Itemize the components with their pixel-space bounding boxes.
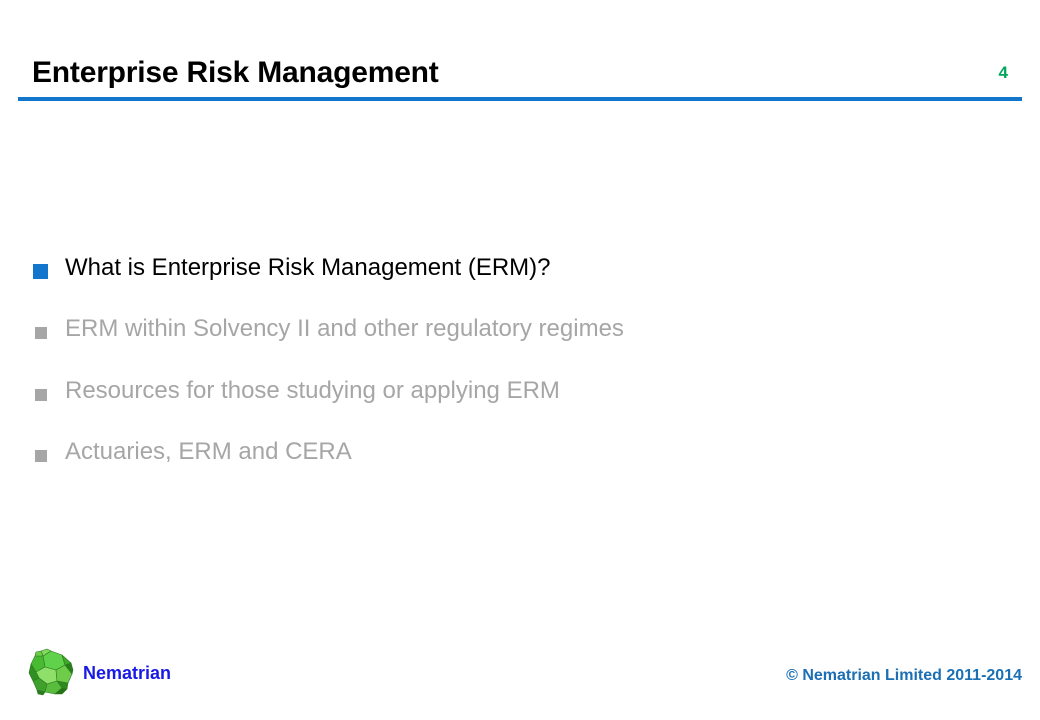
green-polyhedron-logo-icon xyxy=(26,648,76,698)
list-item[interactable]: Actuaries, ERM and CERA xyxy=(33,436,993,468)
presentation-slide: Enterprise Risk Management 4 What is Ent… xyxy=(0,0,1040,720)
bullet-square-icon xyxy=(35,389,47,401)
list-item-label: What is Enterprise Risk Management (ERM)… xyxy=(65,252,550,284)
agenda-bullet-list: What is Enterprise Risk Management (ERM)… xyxy=(33,252,993,498)
page-title: Enterprise Risk Management xyxy=(32,56,439,89)
list-item-label: ERM within Solvency II and other regulat… xyxy=(65,313,624,345)
list-item-label: Actuaries, ERM and CERA xyxy=(65,436,352,468)
list-item[interactable]: ERM within Solvency II and other regulat… xyxy=(33,313,993,345)
slide-page-number: 4 xyxy=(999,64,1008,83)
title-divider-rule xyxy=(18,97,1022,101)
bullet-square-icon xyxy=(35,450,47,462)
brand-logo[interactable]: Nematrian xyxy=(26,648,171,698)
brand-wordmark: Nematrian xyxy=(83,663,171,684)
copyright-notice: © Nematrian Limited 2011-2014 xyxy=(786,667,1022,685)
bullet-square-icon xyxy=(33,264,48,279)
list-item[interactable]: Resources for those studying or applying… xyxy=(33,375,993,407)
list-item-label: Resources for those studying or applying… xyxy=(65,375,560,407)
bullet-square-icon xyxy=(35,327,47,339)
list-item[interactable]: What is Enterprise Risk Management (ERM)… xyxy=(33,252,993,284)
